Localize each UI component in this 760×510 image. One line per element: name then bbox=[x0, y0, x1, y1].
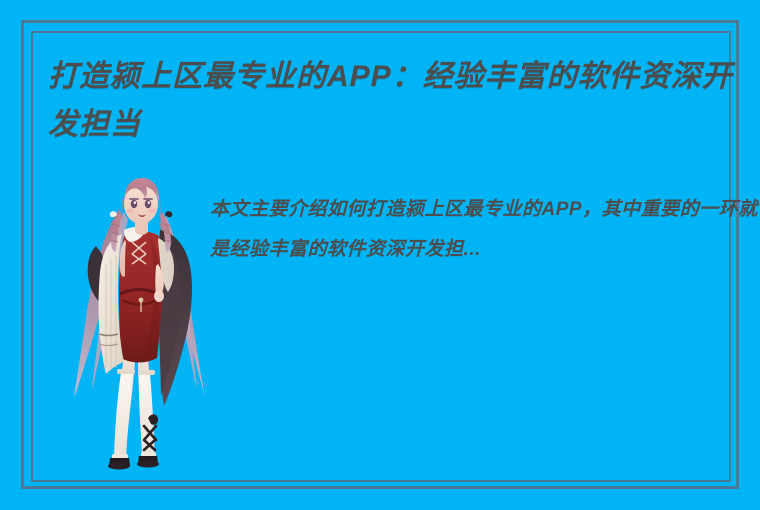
article-summary: 本文主要介绍如何打造颍上区最专业的APP，其中重要的一环就是经验丰富的软件资深开… bbox=[210, 190, 760, 270]
anime-girl-illustration bbox=[62, 168, 222, 480]
article-card: 打造颍上区最专业的APP：经验丰富的软件资深开发担当 本文主要介绍如何打造颍上区… bbox=[0, 0, 760, 510]
character-artwork bbox=[62, 168, 222, 480]
legs bbox=[114, 358, 155, 465]
article-title: 打造颍上区最专业的APP：经验丰富的软件资深开发担当 bbox=[48, 53, 760, 149]
